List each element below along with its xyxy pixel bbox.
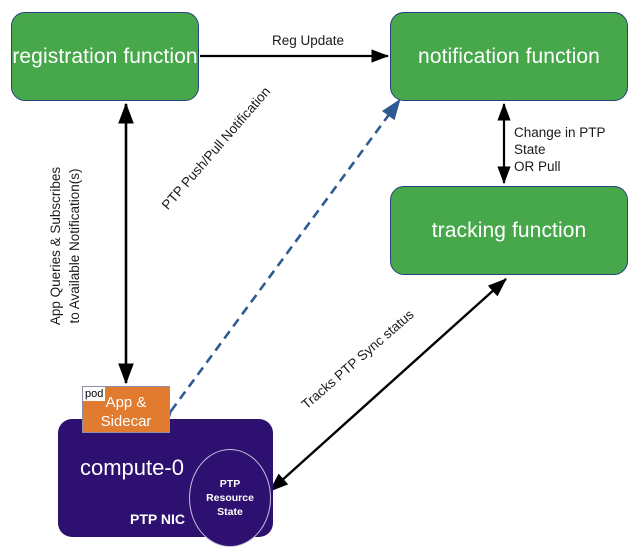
edge-label-app-queries-line2: to Available Notification(s): [67, 168, 82, 323]
ptp-resource-state-line1: PTP: [220, 477, 240, 491]
edge-label-tracks-ptp-sync-status: Tracks PTP Sync status: [298, 306, 417, 413]
pod-label-line1: App &: [106, 394, 147, 411]
edge-label-app-queries: App Queries & Subscribes to Available No…: [46, 128, 84, 364]
node-registration-function-label: registration function: [12, 45, 197, 69]
node-notification-function-label: notification function: [418, 45, 600, 69]
diagram-canvas: registration function notification funct…: [0, 0, 639, 549]
edge-label-change-ptp-state: Change in PTP State OR Pull: [514, 124, 634, 175]
pod-label-line2: Sidecar: [101, 413, 152, 430]
pod-app-sidecar-label: App & Sidecar: [83, 393, 169, 431]
node-tracking-function-label: tracking function: [432, 219, 587, 243]
node-registration-function[interactable]: registration function: [11, 12, 199, 101]
node-pod-app-sidecar[interactable]: pod App & Sidecar: [82, 386, 170, 433]
ptp-resource-state-line3: State: [217, 505, 243, 519]
edge-label-app-queries-line1: App Queries & Subscribes: [48, 167, 63, 325]
edge-tracks-sync: [270, 279, 506, 491]
edge-label-change-ptp-state-line1: Change in PTP State: [514, 125, 605, 157]
edge-label-ptp-push-pull-notification: PTP Push/Pull Notification: [158, 83, 274, 213]
compute-node-nic-label: PTP NIC: [130, 511, 185, 527]
ptp-resource-state-line2: Resource: [206, 491, 254, 505]
edge-label-reg-update: Reg Update: [272, 32, 344, 49]
ptp-resource-state-circle[interactable]: PTP Resource State: [189, 449, 271, 547]
node-notification-function[interactable]: notification function: [390, 12, 628, 101]
edge-label-change-ptp-state-line2: OR Pull: [514, 159, 561, 174]
node-tracking-function[interactable]: tracking function: [390, 186, 628, 275]
compute-node-label: compute-0: [80, 455, 184, 481]
